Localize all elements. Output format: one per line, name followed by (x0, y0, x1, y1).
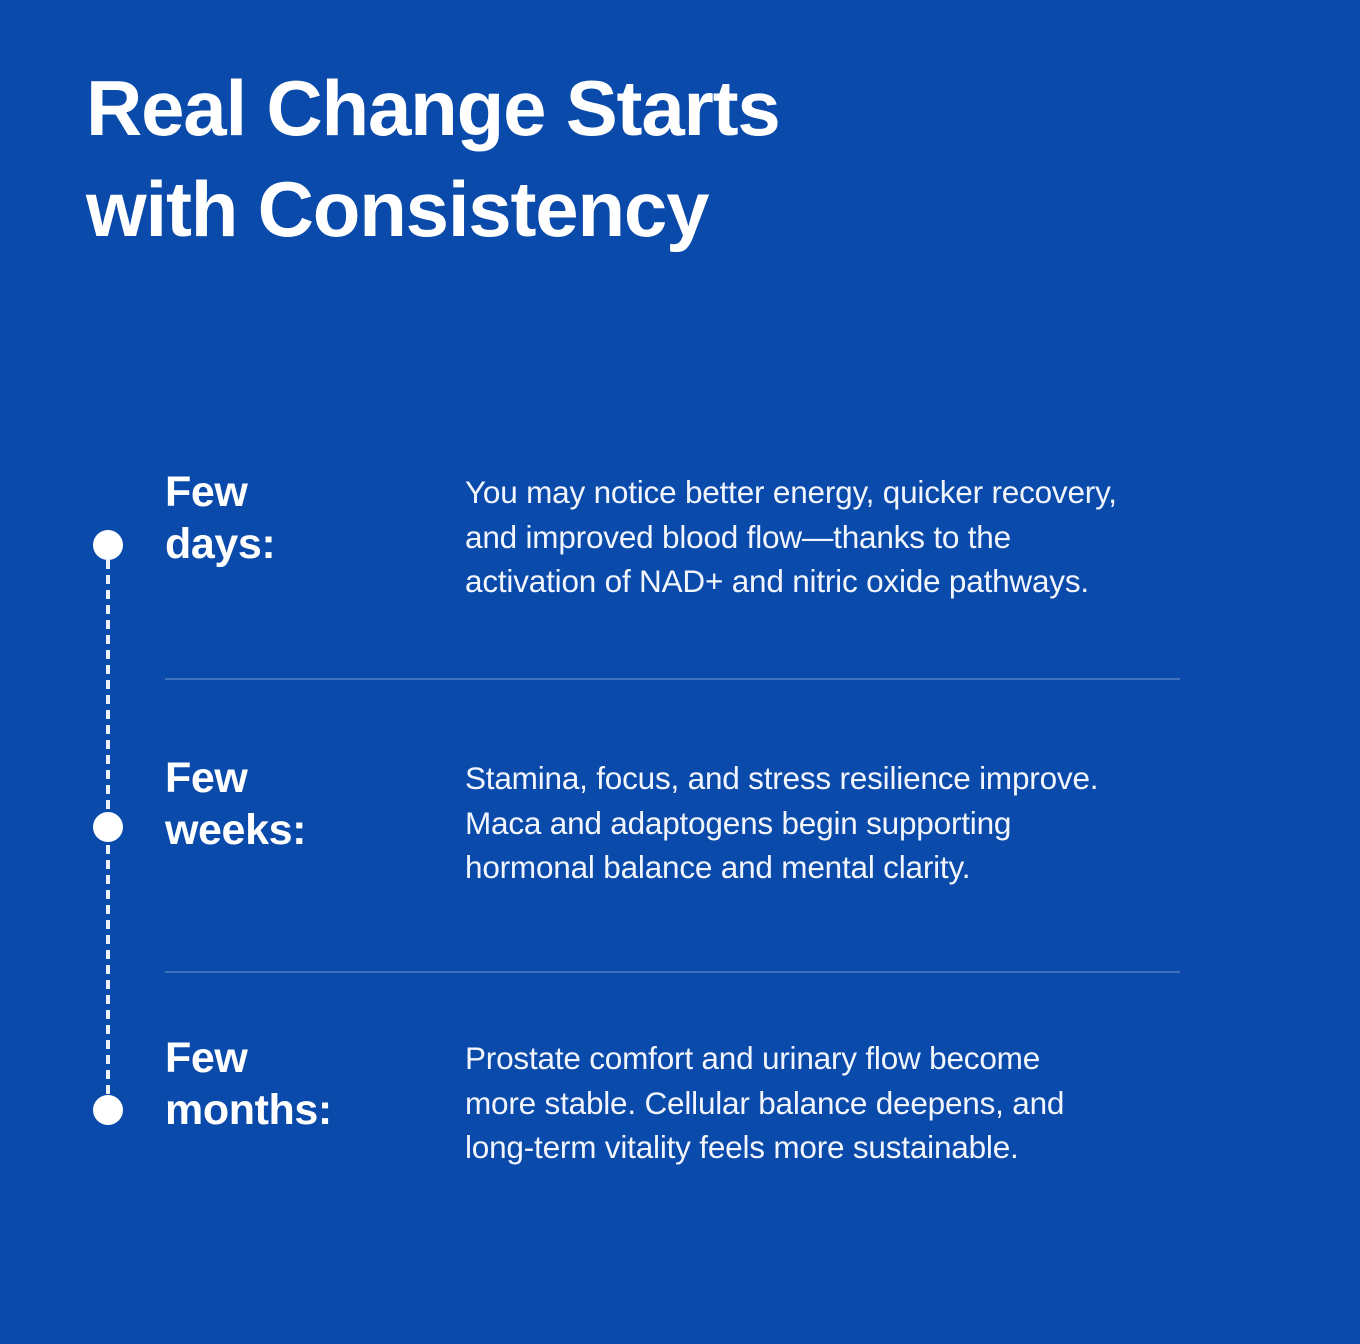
timeline-item-few-weeks: Few weeks: Stamina, focus, and stress re… (165, 752, 1250, 890)
timeline-item-label-few-months: Few months: (165, 1032, 465, 1137)
timeline-item-label-few-days: Few days: (165, 466, 465, 571)
timeline-dot-marker-weeks (93, 812, 123, 842)
infographic-page: Real Change Starts with Consistency Few … (0, 0, 1360, 1344)
timeline-description-line-1: Stamina, focus, and stress resilience im… (465, 756, 1250, 801)
page-title-line-1: Real Change Starts (86, 58, 1206, 159)
timeline-description-line-2: Maca and adaptogens begin supporting (465, 801, 1250, 846)
section-divider-1 (165, 678, 1180, 680)
section-divider-2 (165, 971, 1180, 973)
timeline-label-line-2: weeks: (165, 804, 465, 856)
timeline-label-line-1: Few (165, 466, 465, 518)
timeline-label-line-2: months: (165, 1084, 465, 1136)
timeline-item-description-few-weeks: Stamina, focus, and stress resilience im… (465, 752, 1250, 890)
timeline-item-few-days: Few days: You may notice better energy, … (165, 466, 1250, 604)
timeline-description-line-3: long-term vitality feels more sustainabl… (465, 1125, 1250, 1170)
timeline-item-label-few-weeks: Few weeks: (165, 752, 465, 857)
timeline-description-line-1: Prostate comfort and urinary flow become (465, 1036, 1250, 1081)
timeline-item-description-few-months: Prostate comfort and urinary flow become… (465, 1032, 1250, 1170)
timeline-item-description-few-days: You may notice better energy, quicker re… (465, 466, 1250, 604)
timeline-dot-marker-months (93, 1095, 123, 1125)
timeline-item-few-months: Few months: Prostate comfort and urinary… (165, 1032, 1250, 1170)
timeline-label-line-1: Few (165, 752, 465, 804)
timeline-label-line-1: Few (165, 1032, 465, 1084)
timeline-label-line-2: days: (165, 518, 465, 570)
page-title: Real Change Starts with Consistency (86, 58, 1206, 261)
timeline-description-line-2: and improved blood flow—thanks to the (465, 515, 1250, 560)
timeline-description-line-3: activation of NAD+ and nitric oxide path… (465, 559, 1250, 604)
timeline-description-line-2: more stable. Cellular balance deepens, a… (465, 1081, 1250, 1126)
timeline-description-line-3: hormonal balance and mental clarity. (465, 845, 1250, 890)
timeline-description-line-1: You may notice better energy, quicker re… (465, 470, 1250, 515)
timeline-dot-marker-days (93, 530, 123, 560)
page-title-line-2: with Consistency (86, 159, 1206, 260)
